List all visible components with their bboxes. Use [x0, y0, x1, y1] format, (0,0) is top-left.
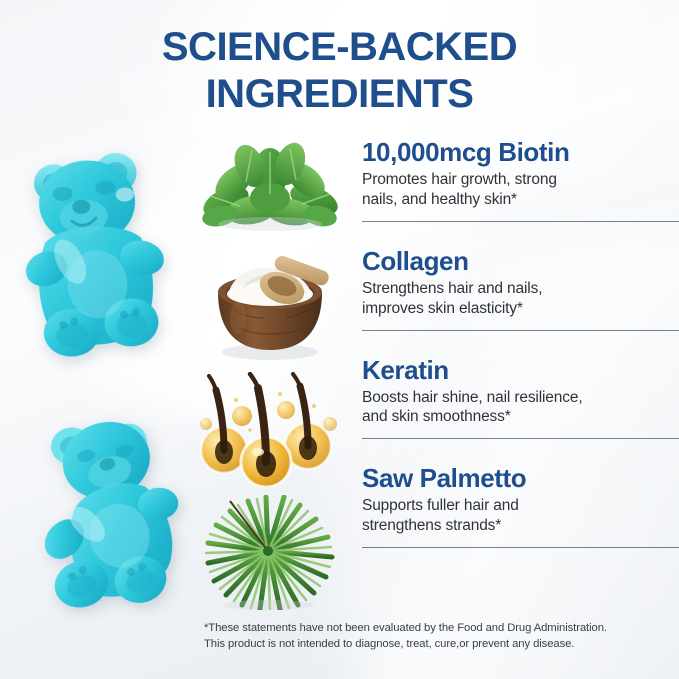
ingredient-item-collagen: Collagen Strengthens hair and nails, imp…	[362, 247, 662, 331]
gummy-bear-upright	[18, 144, 179, 372]
divider-after-collagen	[362, 330, 679, 331]
disclaimer-line-2: This product is not intended to diagnose…	[204, 636, 664, 652]
ingredient-desc-keratin-line-2: and skin smoothness*	[362, 408, 511, 425]
divider-after-biotin	[362, 221, 679, 222]
icon-slot-biotin	[190, 130, 355, 242]
ingredient-desc-biotin-line-2: nails, and healthy skin*	[362, 191, 517, 208]
gummy-bear-tilted	[5, 398, 206, 636]
ingredient-title-collagen: Collagen	[362, 247, 662, 276]
ingredient-title-biotin: 10,000mcg Biotin	[362, 138, 662, 167]
gummy-bear-upright-icon	[18, 144, 179, 367]
powder-bowl-scoop-icon	[190, 248, 350, 363]
spacer	[362, 222, 662, 247]
page-title-line-1: SCIENCE-BACKED	[0, 24, 679, 71]
ingredient-desc-keratin-line-1: Boosts hair shine, nail resilience,	[362, 389, 582, 406]
gummy-bear-tilted-icon	[5, 398, 204, 632]
ingredient-desc-saw-palmetto-line-1: Supports fuller hair and	[362, 497, 519, 514]
icon-slot-keratin	[190, 372, 355, 484]
ingredient-item-keratin: Keratin Boosts hair shine, nail resilien…	[362, 356, 662, 440]
page-title: SCIENCE-BACKED INGREDIENTS	[0, 24, 679, 118]
ingredient-desc-collagen: Strengthens hair and nails, improves ski…	[362, 279, 662, 319]
palm-frond-icon	[190, 495, 350, 610]
ingredient-desc-saw-palmetto: Supports fuller hair and strengthens str…	[362, 496, 662, 536]
icon-slot-saw-palmetto	[190, 495, 355, 607]
ingredient-title-saw-palmetto: Saw Palmetto	[362, 464, 662, 493]
ingredient-icon-column	[190, 130, 355, 610]
divider-after-saw-palmetto	[362, 547, 679, 548]
gummy-bear-group	[0, 130, 200, 630]
ingredient-desc-biotin: Promotes hair growth, strong nails, and …	[362, 170, 662, 210]
icon-slot-collagen	[190, 248, 355, 360]
spinach-leaves-icon	[190, 130, 350, 240]
disclaimer: *These statements have not been evaluate…	[204, 620, 664, 652]
ingredient-list: 10,000mcg Biotin Promotes hair growth, s…	[362, 138, 662, 548]
hair-follicle-serum-icon	[190, 372, 350, 487]
ingredient-desc-collagen-line-1: Strengthens hair and nails,	[362, 280, 542, 297]
ingredient-desc-saw-palmetto-line-2: strengthens strands*	[362, 517, 501, 534]
ingredient-title-keratin: Keratin	[362, 356, 662, 385]
ingredient-desc-keratin: Boosts hair shine, nail resilience, and …	[362, 388, 662, 428]
ingredient-desc-collagen-line-2: improves skin elasticity*	[362, 300, 523, 317]
ingredient-item-saw-palmetto: Saw Palmetto Supports fuller hair and st…	[362, 464, 662, 548]
spacer	[362, 439, 662, 464]
disclaimer-line-1: *These statements have not been evaluate…	[204, 620, 664, 636]
page-title-line-2: INGREDIENTS	[0, 71, 679, 118]
ingredient-desc-biotin-line-1: Promotes hair growth, strong	[362, 171, 557, 188]
divider-after-keratin	[362, 438, 679, 439]
spacer	[362, 331, 662, 356]
ingredient-item-biotin: 10,000mcg Biotin Promotes hair growth, s…	[362, 138, 662, 222]
